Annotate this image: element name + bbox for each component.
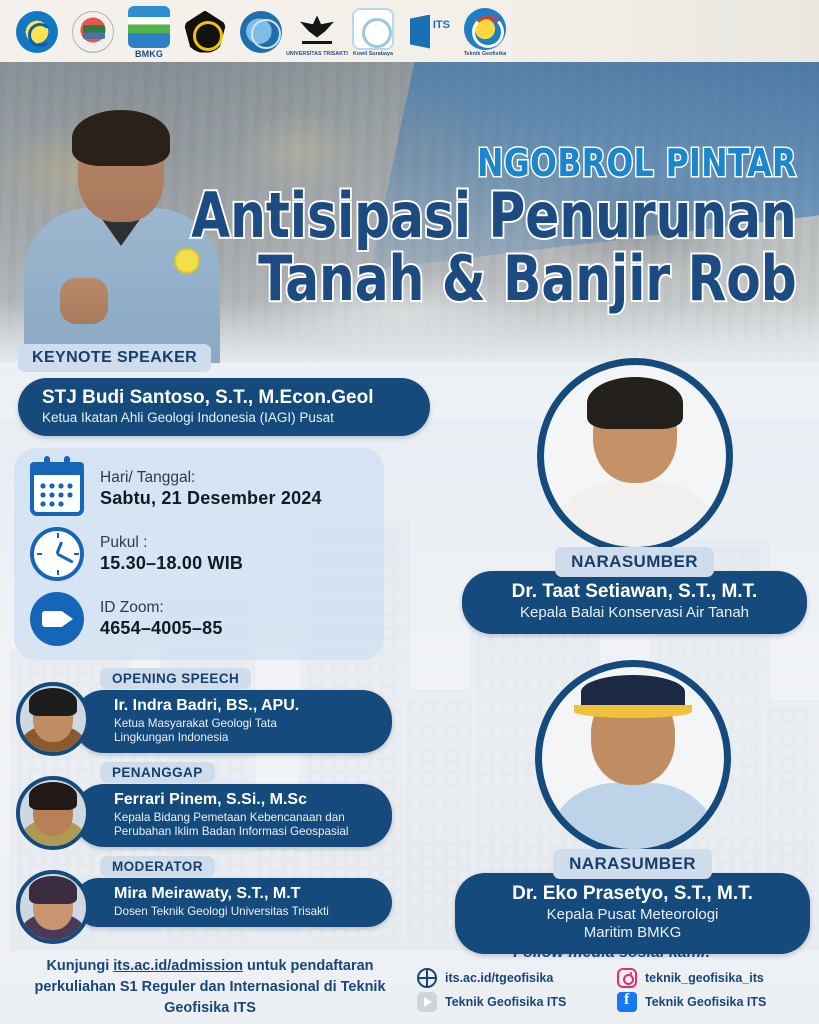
kowil-surabaya-logo: Kowil Surabaya	[350, 8, 396, 57]
speaker-role: Ketua Masyarakat Geologi Tata Lingkungan…	[114, 717, 382, 745]
narasumber-block-eko-prasetyo: NARASUMBER Dr. Eko Prasetyo, S.T., M.T. …	[455, 660, 810, 954]
keynote-speaker-block: KEYNOTE SPEAKER STJ Budi Santoso, S.T., …	[18, 344, 430, 436]
narasumber-block-taat-setiawan: NARASUMBER Dr. Taat Setiawan, S.T., M.T.…	[462, 358, 807, 634]
logo-caption: Kowil Surabaya	[353, 51, 393, 57]
logo-caption: BMKG	[135, 49, 163, 59]
instagram-handle: teknik_geofisika_its	[645, 971, 764, 985]
bmkg-logo: BMKG	[126, 6, 172, 59]
narasumber-role: Kepala Pusat Meteorologi Maritim BMKG	[473, 906, 792, 942]
universitas-trisakti-logo: UNIVERSITAS TRISAKTI	[294, 8, 340, 57]
instagram-icon	[617, 968, 637, 988]
calendar-icon	[30, 462, 84, 516]
youtube-icon	[417, 992, 437, 1012]
date-label: Hari/ Tanggal:	[100, 468, 322, 487]
clock-icon	[30, 527, 84, 581]
speaker-name: Ferrari Pinem, S.Si., M.Sc	[114, 791, 382, 810]
speaker-name-pill: Ir. Indra Badri, BS., APU. Ketua Masyara…	[74, 690, 392, 753]
speaker-role: Dosen Teknik Geologi Universitas Trisakt…	[114, 905, 382, 919]
logo-caption: Teknik Geofisika	[464, 51, 506, 57]
social-facebook[interactable]: Teknik Geofisika ITS	[617, 992, 807, 1012]
keynote-tag: KEYNOTE SPEAKER	[18, 344, 211, 372]
big-geospasial-logo	[238, 11, 284, 54]
event-time-row: Pukul : 15.30–18.00 WIB	[30, 527, 368, 581]
narasumber-name: Dr. Eko Prasetyo, S.T., M.T.	[473, 883, 792, 905]
keynote-role: Ketua Ikatan Ahli Geologi Indonesia (IAG…	[42, 410, 406, 426]
speaker-tag: PENANGGAP	[100, 762, 215, 783]
photo-taat-setiawan	[537, 358, 733, 554]
follow-title: Follow media sosial kami:	[417, 944, 807, 962]
time-value: 15.30–18.00 WIB	[100, 552, 243, 575]
keynote-name-pill: STJ Budi Santoso, S.T., M.Econ.Geol Ketu…	[18, 378, 430, 436]
registration-cta: Kunjungi its.ac.id/admission untuk penda…	[10, 956, 410, 1019]
date-value: Sabtu, 21 Desember 2024	[100, 487, 322, 510]
title-line-1: Antisipasi Penurunan	[192, 186, 797, 247]
photo-eko-prasetyo	[535, 660, 731, 856]
event-date-row: Hari/ Tanggal: Sabtu, 21 Desember 2024	[30, 462, 368, 516]
speaker-tag: MODERATOR	[100, 856, 215, 877]
youtube-handle: Teknik Geofisika ITS	[445, 995, 566, 1009]
event-poster: BMKG UNIVERSITAS TRISAKTI Kowil Surabaya…	[0, 0, 819, 1024]
facebook-icon	[617, 992, 637, 1012]
social-media-block: Follow media sosial kami: its.ac.id/tgeo…	[417, 944, 807, 1012]
its-logo	[406, 11, 452, 54]
zoom-label: ID Zoom:	[100, 598, 223, 617]
logo-caption: UNIVERSITAS TRISAKTI	[286, 51, 348, 57]
universitas-trisakti-seal-logo	[70, 11, 116, 54]
globe-icon	[417, 968, 437, 988]
keynote-name: STJ Budi Santoso, S.T., M.Econ.Geol	[42, 387, 406, 409]
narasumber-role: Kepala Balai Konservasi Air Tanah	[480, 604, 789, 622]
event-zoom-row: ID Zoom: 4654–4005–85	[30, 592, 368, 646]
speaker-name: Ir. Indra Badri, BS., APU.	[114, 697, 382, 716]
headline-block: NGOBROL PINTAR Antisipasi Penurunan Tana…	[124, 144, 797, 310]
avatar-mira-meirawaty	[16, 870, 90, 944]
speaker-tag: OPENING SPEECH	[100, 668, 251, 689]
facebook-handle: Teknik Geofisika ITS	[645, 995, 766, 1009]
partner-logo-bar: BMKG UNIVERSITAS TRISAKTI Kowil Surabaya…	[0, 0, 819, 62]
title-line-2: Tanah & Banjir Rob	[192, 249, 797, 310]
speaker-role: Kepala Bidang Pemetaan Kebencanaan dan P…	[114, 811, 382, 839]
speaker-name: Mira Meirawaty, S.T., M.T	[114, 885, 382, 904]
narasumber-name-pill: Dr. Taat Setiawan, S.T., M.T. Kepala Bal…	[462, 571, 807, 634]
teknik-geofisika-logo: Teknik Geofisika	[462, 8, 508, 57]
narasumber-tag: NARASUMBER	[553, 849, 712, 879]
cta-pre-text: Kunjungi	[46, 958, 113, 974]
avatar-indra-badri	[16, 682, 90, 756]
speaker-name-pill: Mira Meirawaty, S.T., M.T Dosen Teknik G…	[74, 878, 392, 927]
video-camera-icon	[30, 592, 84, 646]
social-grid: its.ac.id/tgeofisika teknik_geofisika_it…	[417, 968, 807, 1012]
zoom-id-value: 4654–4005–85	[100, 617, 223, 640]
iagi-logo	[14, 11, 60, 54]
social-website[interactable]: its.ac.id/tgeofisika	[417, 968, 607, 988]
avatar-ferrari-pinem	[16, 776, 90, 850]
narasumber-name: Dr. Taat Setiawan, S.T., M.T.	[480, 581, 789, 603]
speaker-name-pill: Ferrari Pinem, S.Si., M.Sc Kepala Bidang…	[74, 784, 392, 847]
kicker-text: NGOBROL PINTAR	[178, 144, 797, 182]
website-handle: its.ac.id/tgeofisika	[445, 971, 553, 985]
time-label: Pukul :	[100, 533, 243, 552]
social-instagram[interactable]: teknik_geofisika_its	[617, 968, 807, 988]
admission-link[interactable]: its.ac.id/admission	[113, 958, 243, 974]
event-details-card: Hari/ Tanggal: Sabtu, 21 Desember 2024 P…	[14, 448, 384, 660]
social-youtube[interactable]: Teknik Geofisika ITS	[417, 992, 607, 1012]
narasumber-tag: NARASUMBER	[555, 547, 714, 577]
narasumber-name-pill: Dr. Eko Prasetyo, S.T., M.T. Kepala Pusa…	[455, 873, 810, 954]
magi-geologi-logo	[182, 11, 228, 54]
